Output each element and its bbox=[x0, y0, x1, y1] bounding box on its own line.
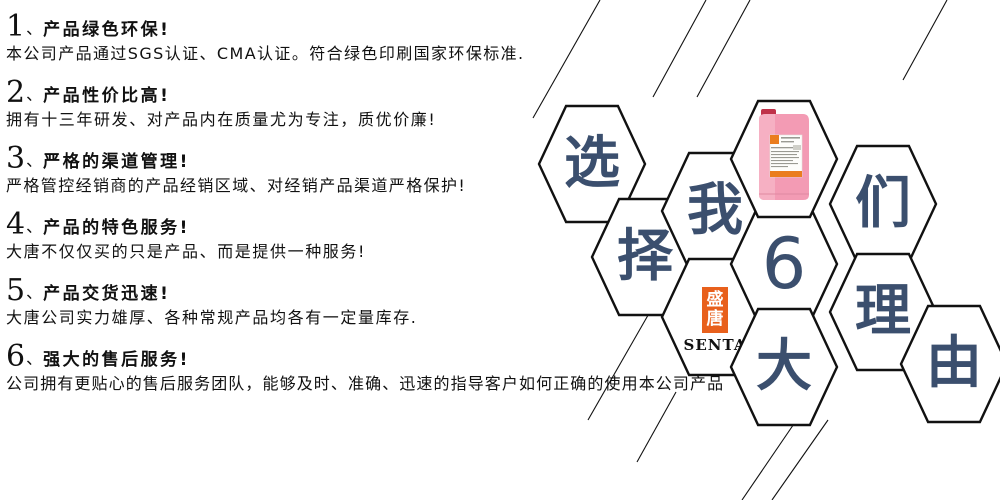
logo-char-top: 盛 bbox=[707, 291, 724, 310]
feature-number: 4 bbox=[6, 210, 25, 240]
feature-body: 公司拥有更贴心的售后服务团队，能够及时、准确、迅速的指导客户如何正确的使用本公司… bbox=[6, 373, 706, 395]
feature-enum-mark: 、 bbox=[26, 216, 42, 238]
feature-list: 1 、 产品绿色环保! 本公司产品通过SGS认证、CMA认证。符合绿色印刷国家环… bbox=[6, 4, 706, 400]
feature-enum-mark: 、 bbox=[26, 18, 42, 40]
feature-body: 严格管控经销商的产品经销区域、对经销产品渠道严格保护! bbox=[6, 175, 706, 197]
hexagon-label-six: 6 bbox=[730, 205, 838, 323]
feature-body: 大唐公司实力雄厚、各种常规产品均各有一定量库存. bbox=[6, 307, 706, 329]
promo-banner: 1 、 产品绿色环保! 本公司产品通过SGS认证、CMA认证。符合绿色印刷国家环… bbox=[0, 0, 1000, 500]
list-item: 2 、 产品性价比高! 拥有十三年研发、对产品内在质量尤为专注，质优价廉! bbox=[6, 70, 706, 131]
feature-heading: 3 、 严格的渠道管理! bbox=[6, 136, 706, 174]
list-item: 5 、 产品交货迅速! 大唐公司实力雄厚、各种常规产品均各有一定量库存. bbox=[6, 268, 706, 329]
hexagon-cell-you: 由 bbox=[900, 305, 1000, 423]
list-item: 6 、 强大的售后服务! 公司拥有更贴心的售后服务团队，能够及时、准确、迅速的指… bbox=[6, 334, 706, 395]
feature-heading: 4 、 产品的特色服务! bbox=[6, 202, 706, 240]
feature-title: 强大的售后服务! bbox=[43, 349, 190, 371]
feature-enum-mark: 、 bbox=[26, 282, 42, 304]
product-image-jerrycan bbox=[753, 105, 815, 203]
feature-heading: 6 、 强大的售后服务! bbox=[6, 334, 706, 372]
feature-enum-mark: 、 bbox=[26, 84, 42, 106]
feature-number: 6 bbox=[6, 342, 25, 372]
feature-heading: 2 、 产品性价比高! bbox=[6, 70, 706, 108]
feature-title: 产品的特色服务! bbox=[43, 217, 190, 239]
feature-number: 5 bbox=[6, 276, 25, 306]
feature-number: 3 bbox=[6, 144, 25, 174]
hexagon-label-men: 们 bbox=[829, 145, 937, 263]
feature-title: 产品性价比高! bbox=[43, 85, 170, 107]
feature-title: 严格的渠道管理! bbox=[43, 151, 190, 173]
feature-title: 产品绿色环保! bbox=[43, 19, 170, 41]
hexagon-cell-men: 们 bbox=[829, 145, 937, 263]
hexagon-cell-six: 6 bbox=[730, 205, 838, 323]
feature-heading: 1 、 产品绿色环保! bbox=[6, 4, 706, 42]
feature-heading: 5 、 产品交货迅速! bbox=[6, 268, 706, 306]
feature-title: 产品交货迅速! bbox=[43, 283, 170, 305]
feature-number: 2 bbox=[6, 78, 25, 108]
feature-body: 本公司产品通过SGS认证、CMA认证。符合绿色印刷国家环保标准. bbox=[6, 43, 706, 65]
list-item: 3 、 严格的渠道管理! 严格管控经销商的产品经销区域、对经销产品渠道严格保护! bbox=[6, 136, 706, 197]
hexagon-label-you: 由 bbox=[900, 305, 1000, 423]
feature-body: 拥有十三年研发、对产品内在质量尤为专注，质优价廉! bbox=[6, 109, 706, 131]
logo-char-bottom: 唐 bbox=[707, 310, 724, 329]
feature-enum-mark: 、 bbox=[26, 150, 42, 172]
feature-number: 1 bbox=[6, 12, 25, 42]
list-item: 4 、 产品的特色服务! 大唐不仅仅买的只是产品、而是提供一种服务! bbox=[6, 202, 706, 263]
hexagon-cell-da: 大 bbox=[730, 308, 838, 426]
feature-body: 大唐不仅仅买的只是产品、而是提供一种服务! bbox=[6, 241, 706, 263]
hexagon-label-da: 大 bbox=[730, 308, 838, 426]
list-item: 1 、 产品绿色环保! 本公司产品通过SGS认证、CMA认证。符合绿色印刷国家环… bbox=[6, 4, 706, 65]
feature-enum-mark: 、 bbox=[26, 348, 42, 370]
